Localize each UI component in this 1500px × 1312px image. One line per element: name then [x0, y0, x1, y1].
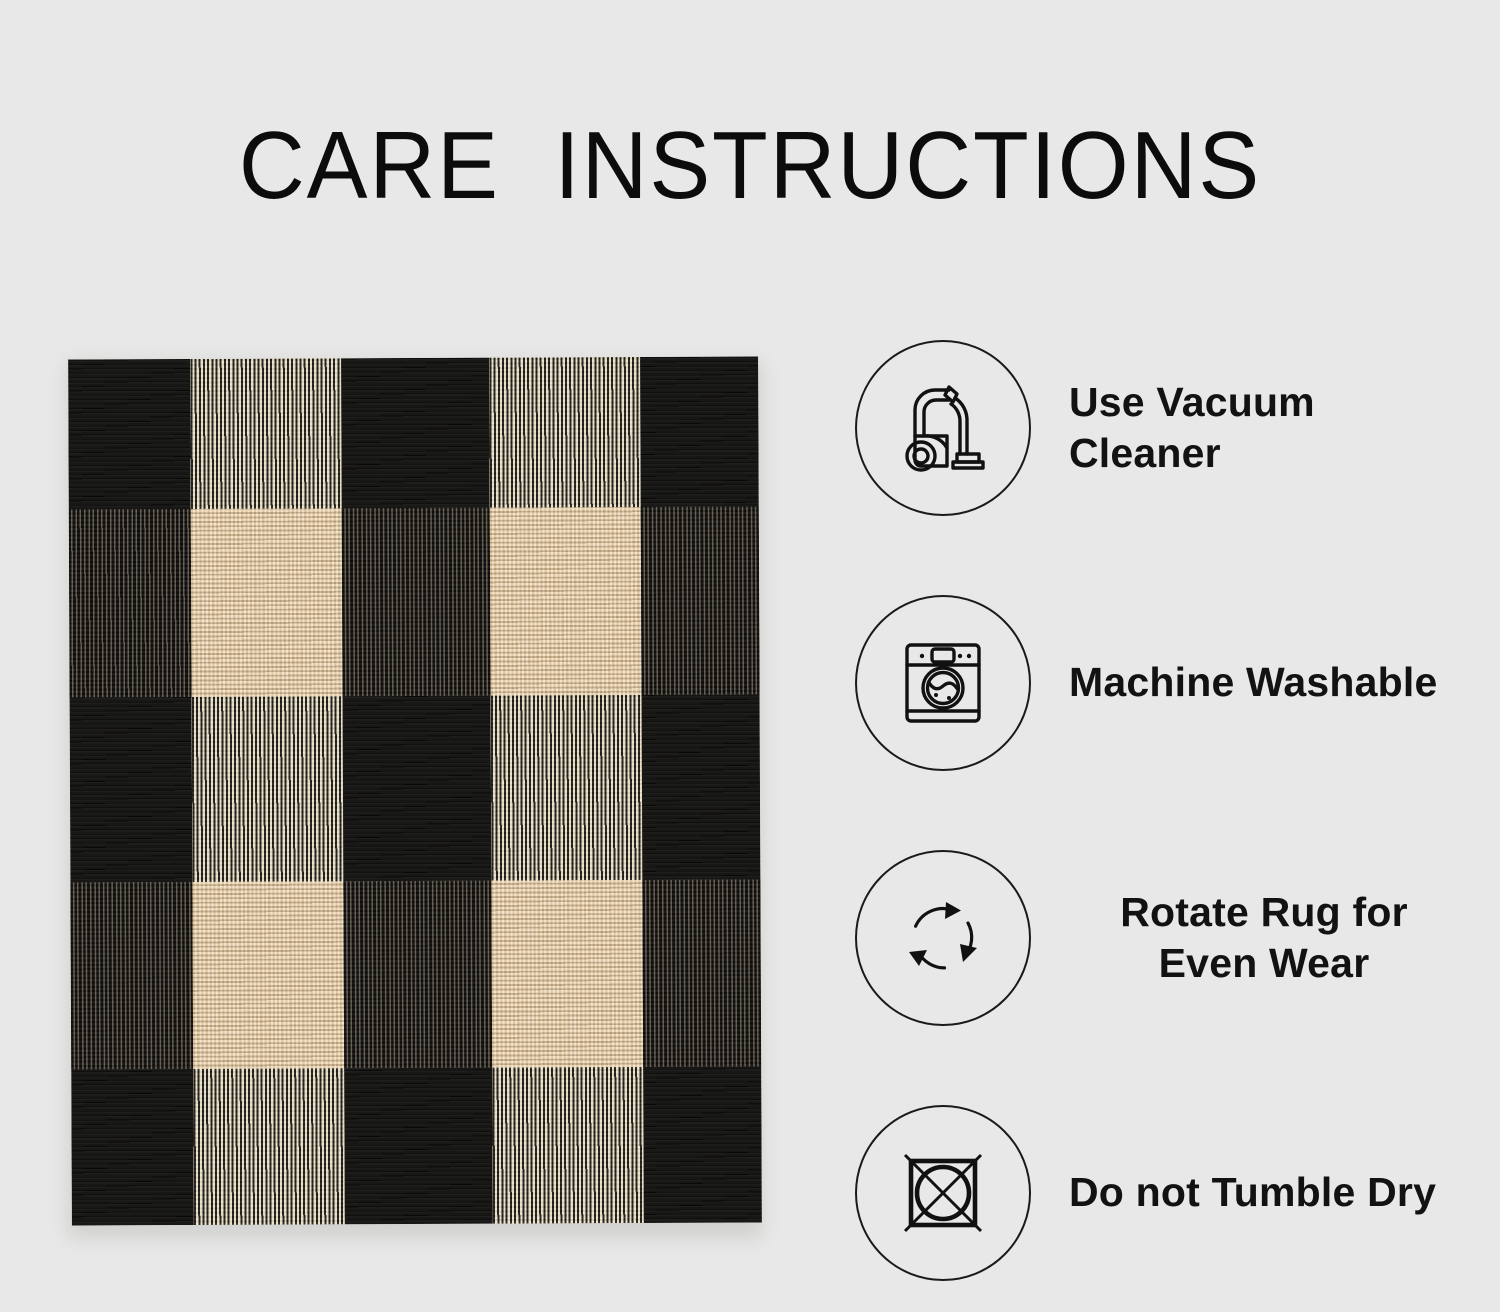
vacuum-cleaner-icon — [855, 340, 1031, 516]
care-item-label: Use Vacuum Cleaner — [1069, 377, 1459, 477]
rug-cell — [344, 1068, 493, 1224]
rug-cell — [341, 358, 490, 508]
rug-cell — [643, 1067, 762, 1223]
care-item-rotate: Rotate Rug for Even Wear — [855, 810, 1475, 1065]
rug-cell — [68, 359, 190, 509]
rug-cell — [491, 695, 643, 881]
care-item-label: Machine Washable — [1069, 657, 1438, 707]
no-tumble-dry-icon — [855, 1105, 1031, 1281]
rug-cell — [342, 695, 491, 881]
rug-cell — [490, 507, 642, 696]
rug-cell — [192, 881, 344, 1070]
rug-cell — [642, 879, 761, 1067]
care-item-vacuum: Use Vacuum Cleaner — [855, 300, 1475, 555]
care-item-label: Rotate Rug for Even Wear — [1069, 887, 1459, 987]
care-item-no-tumble-dry: Do not Tumble Dry — [855, 1065, 1475, 1312]
rug-cell — [69, 509, 192, 697]
rug-cell — [70, 882, 193, 1070]
rug-cell — [193, 1069, 344, 1225]
rug-cell — [489, 357, 640, 507]
washing-machine-icon — [855, 595, 1031, 771]
rug-cell — [70, 697, 193, 882]
rotate-arrows-icon — [855, 850, 1031, 1026]
rug-cell — [71, 1069, 193, 1225]
rug-pattern-grid — [68, 356, 762, 1225]
rug-cell — [491, 880, 643, 1069]
care-item-label: Do not Tumble Dry — [1069, 1167, 1436, 1217]
rug-cell — [492, 1067, 643, 1223]
rug-face — [68, 356, 762, 1225]
care-instruction-list: Use Vacuum Cleaner — [855, 300, 1475, 1312]
rug-cell — [641, 694, 760, 879]
rug-cell — [191, 508, 343, 697]
rug-cell — [640, 506, 759, 694]
rug-cell — [640, 356, 759, 506]
product-rug-image — [62, 352, 762, 1242]
rug-cell — [343, 880, 492, 1069]
rug-cell — [191, 696, 343, 882]
page-title: CARE INSTRUCTIONS — [38, 118, 1463, 214]
rug-cell — [190, 358, 341, 508]
care-item-machine-wash: Machine Washable — [855, 555, 1475, 810]
rug-cell — [341, 507, 490, 696]
